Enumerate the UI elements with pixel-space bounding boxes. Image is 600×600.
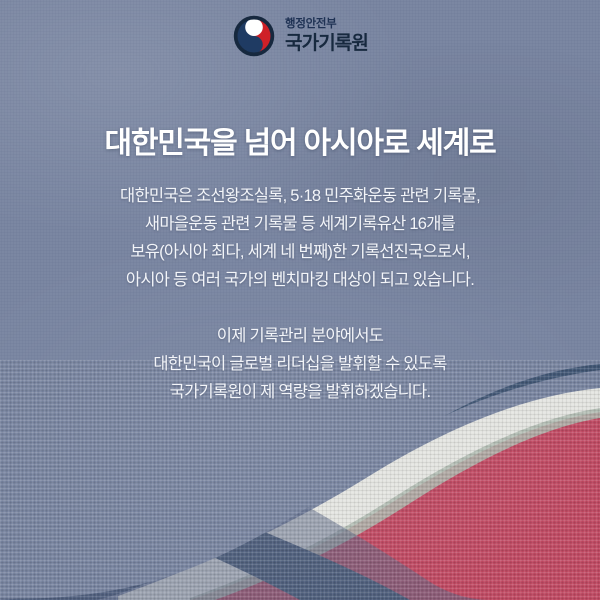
paragraph-line: 보유(아시아 최다, 세계 네 번째)한 기록선진국으로서, — [0, 238, 600, 266]
paragraph-line: 새마을운동 관련 기록물 등 세계기록유산 16개를 — [0, 210, 600, 238]
ministry-name: 행정안전부 — [285, 19, 368, 31]
organization-logo: 행정안전부 국가기록원 — [0, 11, 600, 61]
infographic-card: 행정안전부 국가기록원 대한민국을 넘어 아시아로 세계로 대한민국은 조선왕조… — [0, 0, 600, 600]
paragraph-two: 이제 기록관리 분야에서도 대한민국이 글로벌 리더십을 발휘할 수 있도록 국… — [0, 322, 600, 406]
paragraph-line: 아시아 등 여러 국가의 벤치마킹 대상이 되고 있습니다. — [0, 266, 600, 294]
page-title: 대한민국을 넘어 아시아로 세계로 — [0, 118, 600, 162]
paragraph-line: 대한민국이 글로벌 리더십을 발휘할 수 있도록 — [0, 350, 600, 378]
logo-text-block: 행정안전부 국가기록원 — [285, 19, 368, 53]
paragraph-line: 이제 기록관리 분야에서도 — [0, 322, 600, 350]
taegeuk-icon — [232, 14, 276, 58]
agency-name: 국가기록원 — [285, 34, 368, 53]
paragraph-line: 국가기록원이 제 역량을 발휘하겠습니다. — [0, 378, 600, 406]
paragraph-one: 대한민국은 조선왕조실록, 5·18 민주화운동 관련 기록물, 새마을운동 관… — [0, 182, 600, 294]
paragraph-line: 대한민국은 조선왕조실록, 5·18 민주화운동 관련 기록물, — [0, 182, 600, 210]
